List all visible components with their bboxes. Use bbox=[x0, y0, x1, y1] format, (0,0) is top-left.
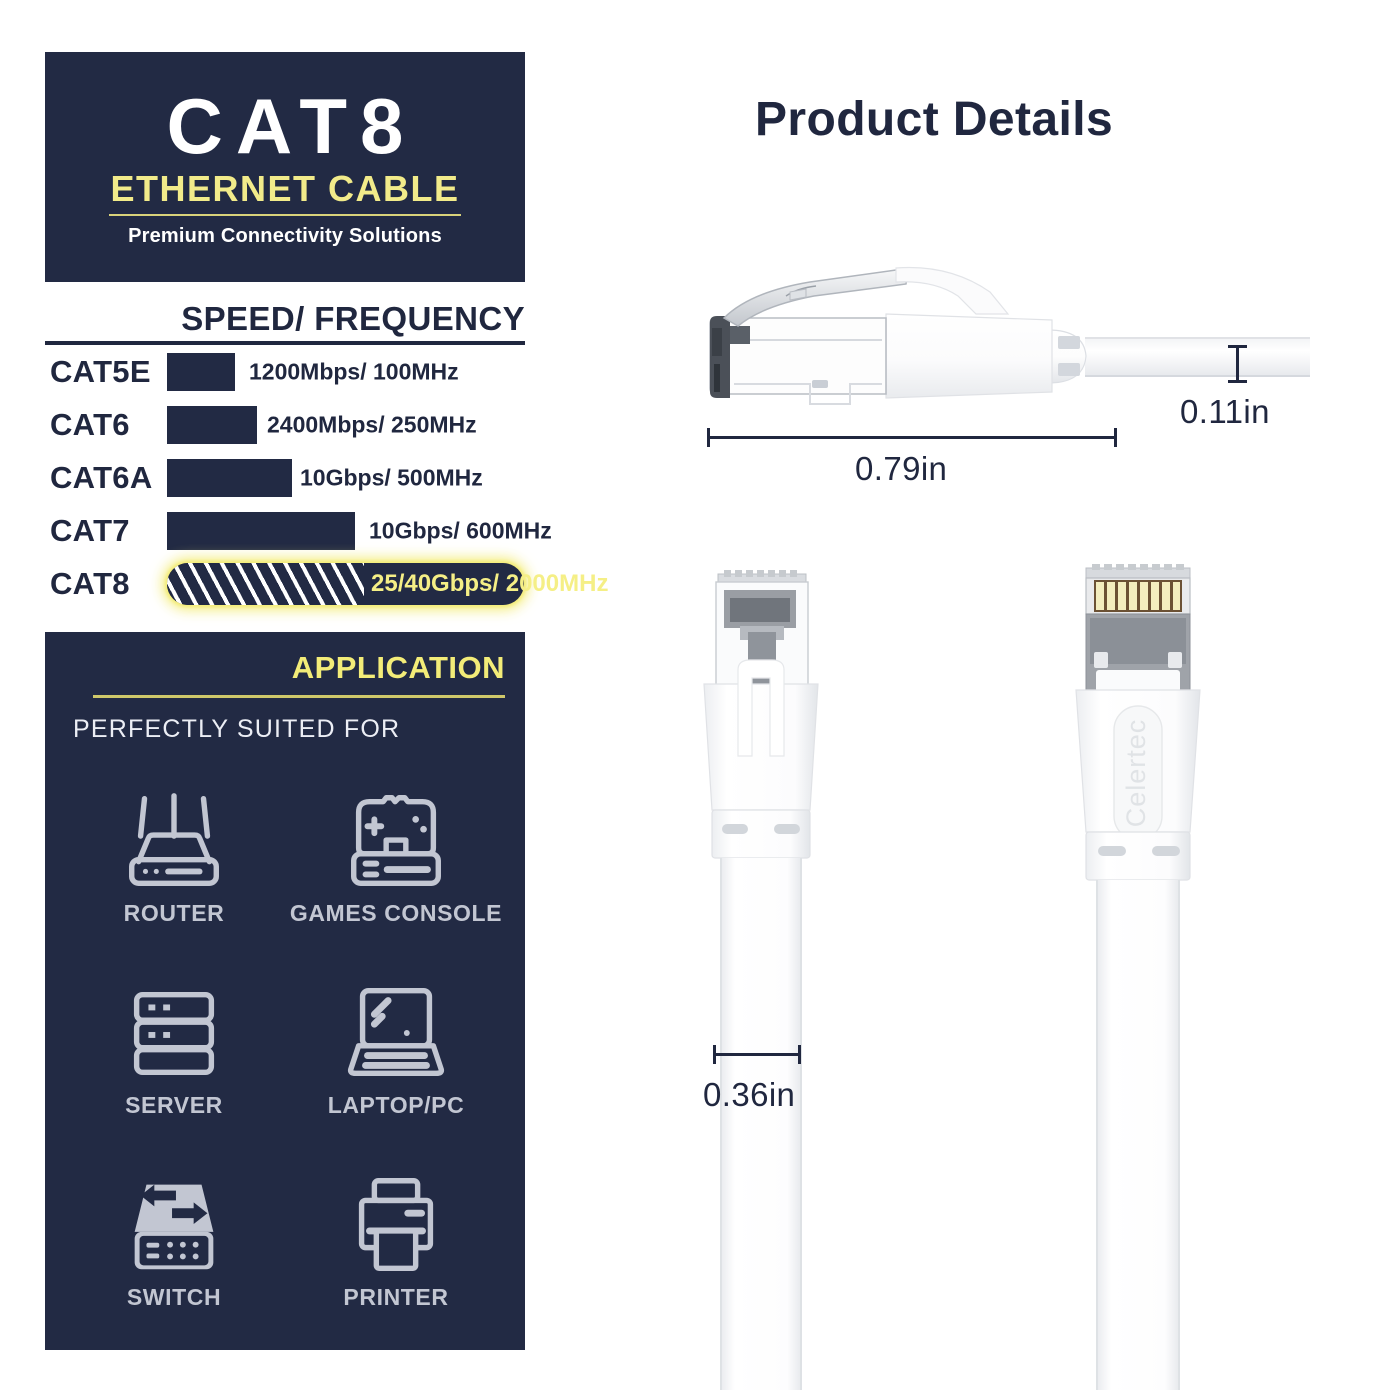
dimension-line-cable-width bbox=[713, 1053, 801, 1056]
dimension-label-cable-width: 0.36in bbox=[703, 1076, 795, 1114]
application-item-label: SWITCH bbox=[127, 1284, 221, 1311]
chart-bar bbox=[167, 512, 355, 550]
dimension-tick-cable-right bbox=[798, 1045, 801, 1064]
connector-front-view-illustration: Celertec bbox=[1060, 560, 1240, 1390]
server-icon bbox=[115, 978, 233, 1088]
chart-row-highlighted: CAT8 25/40Gbps/ 2000MHz bbox=[45, 557, 529, 610]
chart-row-value: 10Gbps/ 600MHz bbox=[369, 517, 552, 544]
dimension-tick-top bbox=[1228, 345, 1247, 348]
chart-row-category: CAT8 bbox=[45, 566, 167, 602]
chart-row: CAT6 2400Mbps/ 250MHz bbox=[45, 398, 529, 451]
application-panel: APPLICATION PERFECTLY SUITED FOR bbox=[45, 632, 525, 1350]
page-title: Product Details bbox=[755, 92, 1113, 147]
hero-title: CAT8 bbox=[154, 87, 417, 165]
gamepad-icon bbox=[337, 786, 455, 896]
application-divider bbox=[93, 695, 505, 698]
network-switch-icon bbox=[115, 1170, 233, 1280]
dimension-tick-bottom bbox=[1228, 380, 1247, 383]
chart-bar bbox=[167, 406, 257, 444]
chart-row-track: 1200Mbps/ 100MHz bbox=[167, 345, 529, 398]
chart-row-track: 25/40Gbps/ 2000MHz bbox=[167, 557, 529, 610]
chart-row: CAT5E 1200Mbps/ 100MHz bbox=[45, 345, 529, 398]
brand-emboss-text: Celertec bbox=[1121, 719, 1151, 828]
application-icon-grid: ROUTER GAMES bbox=[63, 760, 507, 1336]
chart-row-track: 2400Mbps/ 250MHz bbox=[167, 398, 529, 451]
dimension-tick-left bbox=[707, 428, 710, 447]
chart-bar bbox=[167, 353, 235, 391]
application-item-server: SERVER bbox=[63, 952, 285, 1144]
chart-row: CAT7 10Gbps/ 600MHz bbox=[45, 504, 529, 557]
application-heading: APPLICATION bbox=[292, 650, 505, 686]
application-item-label: LAPTOP/PC bbox=[328, 1092, 465, 1119]
application-item-label: ROUTER bbox=[124, 900, 225, 927]
chart-row-track: 10Gbps/ 600MHz bbox=[167, 504, 529, 557]
infographic-canvas: CAT8 ETHERNET CABLE Premium Connectivity… bbox=[0, 0, 1400, 1400]
chart-row-category: CAT5E bbox=[45, 354, 167, 390]
chart-row-category: CAT6A bbox=[45, 460, 167, 496]
chart-row-value: 10Gbps/ 500MHz bbox=[300, 464, 483, 491]
application-item-label: SERVER bbox=[125, 1092, 223, 1119]
application-item-label: PRINTER bbox=[343, 1284, 448, 1311]
chart-bar bbox=[167, 459, 292, 497]
hero-subtitle: ETHERNET CABLE bbox=[110, 171, 459, 207]
chart-row-track: 10Gbps/ 500MHz bbox=[167, 451, 529, 504]
application-item-laptop-pc: LAPTOP/PC bbox=[285, 952, 507, 1144]
dimension-label-cable-thickness: 0.11in bbox=[1180, 393, 1270, 431]
dimension-label-connector-length: 0.79in bbox=[855, 450, 947, 488]
dimension-line-cable-thickness bbox=[1236, 345, 1239, 383]
speed-frequency-chart: SPEED/ FREQUENCY CAT5E 1200Mbps/ 100MHz … bbox=[45, 300, 529, 610]
application-item-printer: PRINTER bbox=[285, 1144, 507, 1336]
printer-icon bbox=[337, 1170, 455, 1280]
connector-rear-view-illustration bbox=[690, 560, 860, 1390]
chart-row-value: 1200Mbps/ 100MHz bbox=[249, 358, 459, 385]
chart-row-value: 2400Mbps/ 250MHz bbox=[267, 411, 477, 438]
speed-frequency-heading: SPEED/ FREQUENCY bbox=[45, 300, 529, 338]
hero-tagline: Premium Connectivity Solutions bbox=[128, 225, 442, 248]
chart-row-value: 25/40Gbps/ 2000MHz bbox=[371, 570, 608, 598]
hero-banner: CAT8 ETHERNET CABLE Premium Connectivity… bbox=[45, 52, 525, 282]
application-subheading: PERFECTLY SUITED FOR bbox=[73, 715, 400, 744]
application-item-games-console: GAMES CONSOLE bbox=[285, 760, 507, 952]
application-item-switch: SWITCH bbox=[63, 1144, 285, 1336]
chart-bar-stripe-fill bbox=[167, 563, 364, 605]
chart-row: CAT6A 10Gbps/ 500MHz bbox=[45, 451, 529, 504]
hero-divider bbox=[109, 214, 461, 216]
chart-row-category: CAT6 bbox=[45, 407, 167, 443]
dimension-line-connector-length bbox=[707, 436, 1117, 439]
laptop-icon bbox=[337, 978, 455, 1088]
dimension-tick-right bbox=[1114, 428, 1117, 447]
router-icon bbox=[115, 786, 233, 896]
dimension-tick-cable-left bbox=[713, 1045, 716, 1064]
application-item-router: ROUTER bbox=[63, 760, 285, 952]
chart-row-category: CAT7 bbox=[45, 513, 167, 549]
application-item-label: GAMES CONSOLE bbox=[290, 900, 502, 927]
